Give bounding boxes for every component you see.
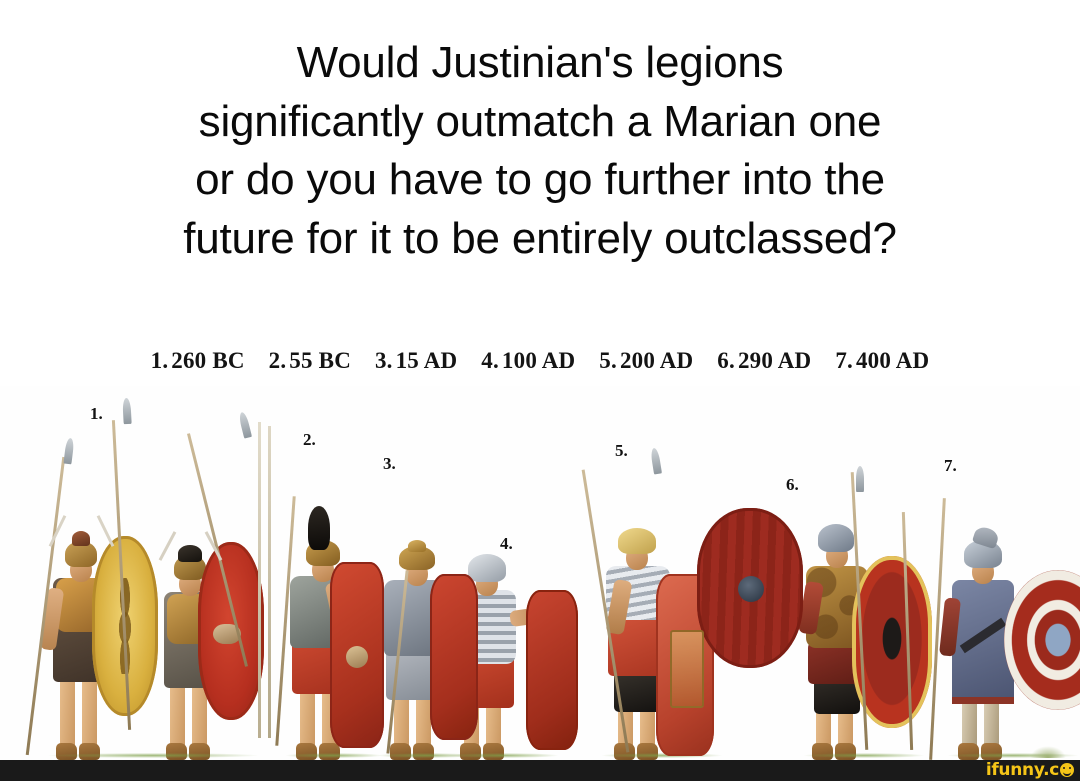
crest-3 (408, 540, 426, 552)
legend-number-2: 2. (269, 348, 287, 373)
ground-shadow-4 (448, 753, 558, 758)
legend-number-5: 5. (599, 348, 617, 373)
feather-1b-left (159, 531, 177, 561)
meme-caption: Would Justinian's legions significantly … (0, 34, 1080, 268)
legend-item-6: 6.290 AD (717, 348, 811, 374)
caption-line-3: or do you have to go further into the (0, 151, 1080, 210)
shield-7-round-concentric (1004, 570, 1080, 710)
pilum-divider-a (258, 422, 261, 738)
legend-number-1: 1. (151, 348, 169, 373)
legend-date-6: 290 AD (738, 348, 811, 373)
figure-label-4: 4. (500, 534, 513, 554)
legend-date-3: 15 AD (396, 348, 458, 373)
figure-label-6: 6. (786, 475, 799, 495)
figure-group-6 (790, 466, 930, 760)
figure-group-7 (912, 470, 1072, 760)
helmet-4-imperial-gallic (468, 554, 506, 582)
watermark-bar: ifunny.c (0, 760, 1080, 781)
soldier-illustration-plate: 1. (0, 386, 1080, 760)
helmet-5 (618, 528, 656, 554)
legend-date-2: 55 BC (289, 348, 351, 373)
ground-shadow-6 (804, 753, 924, 758)
ifunny-watermark: ifunny.c (986, 761, 1074, 780)
caption-line-2: significantly outmatch a Marian one (0, 93, 1080, 152)
legend-number-6: 6. (717, 348, 735, 373)
spearhead-5 (650, 448, 662, 475)
legend-number-3: 3. (375, 348, 393, 373)
figure-label-7: 7. (944, 456, 957, 476)
watermark-label: ifunny.c (986, 760, 1059, 780)
caption-line-1: Would Justinian's legions (0, 34, 1080, 93)
shield-boss-2 (346, 646, 368, 668)
shield-4-red-scutum (526, 590, 578, 750)
legend-item-2: 2.55 BC (269, 348, 351, 374)
date-legend: 1.260 BC 2.55 BC 3.15 AD 4.100 AD 5.200 … (0, 348, 1080, 374)
legend-item-7: 7.400 AD (835, 348, 929, 374)
tunic-7-hem (952, 697, 1014, 704)
legend-number-7: 7. (835, 348, 853, 373)
spearhead-1b (122, 398, 131, 424)
grass-tuft-7 (1030, 746, 1066, 758)
smiley-face-icon (1060, 763, 1074, 777)
spearhead-1a (63, 438, 74, 465)
plume-1b (178, 545, 202, 562)
figure-group-1 (20, 414, 250, 760)
shield-boss-standalone (738, 576, 764, 602)
meme-image: Would Justinian's legions significantly … (0, 0, 1080, 781)
plume-2-black (308, 506, 330, 550)
legend-item-4: 4.100 AD (481, 348, 575, 374)
feather-1a-right (97, 515, 115, 547)
spearhead-6a (856, 466, 864, 492)
boot-1a-left (56, 743, 77, 760)
figure-label-1: 1. (90, 404, 103, 424)
figure-label-2: 2. (303, 430, 316, 450)
shield-5-device (670, 630, 704, 708)
legend-item-3: 3.15 AD (375, 348, 457, 374)
ground-shadow-1 (48, 753, 258, 758)
pilum-divider-b (268, 426, 271, 738)
helmet-6-ridge (818, 524, 854, 552)
spearhead-1c (238, 411, 252, 438)
figure-label-3: 3. (383, 454, 396, 474)
legend-date-4: 100 AD (502, 348, 575, 373)
plume-1a (72, 531, 90, 546)
legend-date-7: 400 AD (856, 348, 929, 373)
figure-label-5: 5. (615, 441, 628, 461)
legend-item-1: 1.260 BC (151, 348, 245, 374)
legend-item-5: 5.200 AD (599, 348, 693, 374)
caption-line-4: future for it to be entirely outclassed? (0, 210, 1080, 269)
legend-number-4: 4. (481, 348, 499, 373)
legend-date-5: 200 AD (620, 348, 693, 373)
legend-date-1: 260 BC (171, 348, 244, 373)
shield-3-red-scutum (430, 574, 478, 740)
